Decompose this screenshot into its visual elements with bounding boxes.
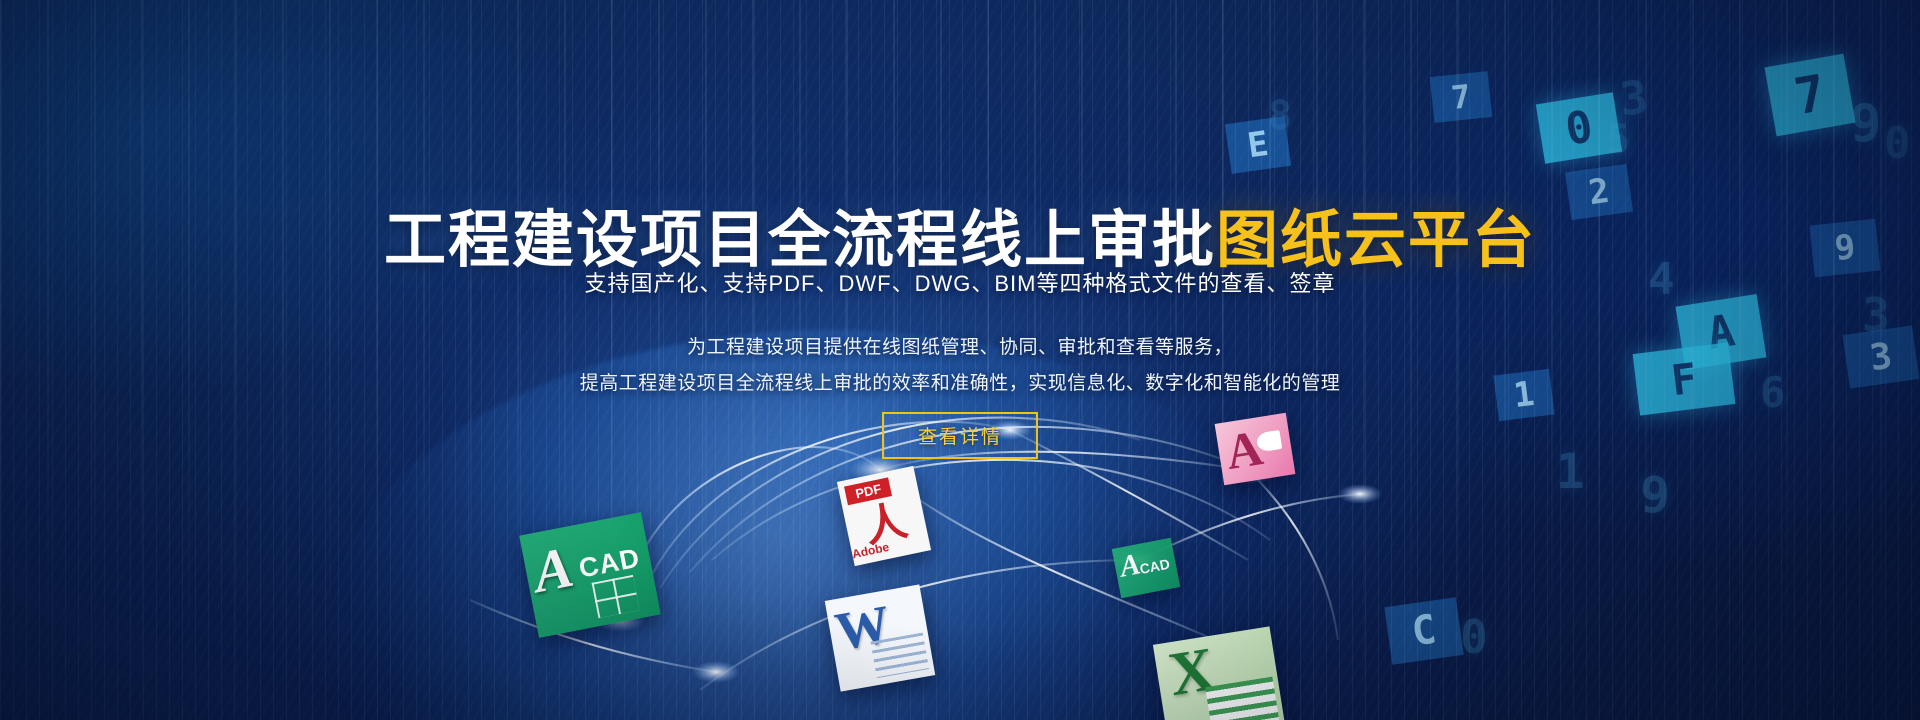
hero-content: 工程建设项目全流程线上审批图纸云平台 支持国产化、支持PDF、DWF、DWG、B…: [0, 0, 1920, 720]
hero-subtitle: 支持国产化、支持PDF、DWF、DWG、BIM等四种格式文件的查看、签章: [0, 266, 1920, 298]
page-title: 工程建设项目全流程线上审批图纸云平台: [0, 210, 1920, 272]
hero-banner: 0 3 5 7 9 2 4 A F 6 9 3 3 0 1 1 9 C 0 8 …: [0, 0, 1920, 720]
hero-description: 为工程建设项目提供在线图纸管理、协同、审批和查看等服务， 提高工程建设项目全流程…: [0, 330, 1920, 402]
hero-description-line-1: 为工程建设项目提供在线图纸管理、协同、审批和查看等服务，: [0, 330, 1920, 366]
page-title-main: 工程建设项目全流程线上审批: [384, 206, 1216, 275]
view-details-button[interactable]: 查看详情: [882, 412, 1038, 459]
page-title-highlight: 图纸云平台: [1216, 206, 1536, 275]
hero-description-line-2: 提高工程建设项目全流程线上审批的效率和准确性，实现信息化、数字化和智能化的管理: [0, 366, 1920, 402]
cta-container: 查看详情: [0, 412, 1920, 459]
